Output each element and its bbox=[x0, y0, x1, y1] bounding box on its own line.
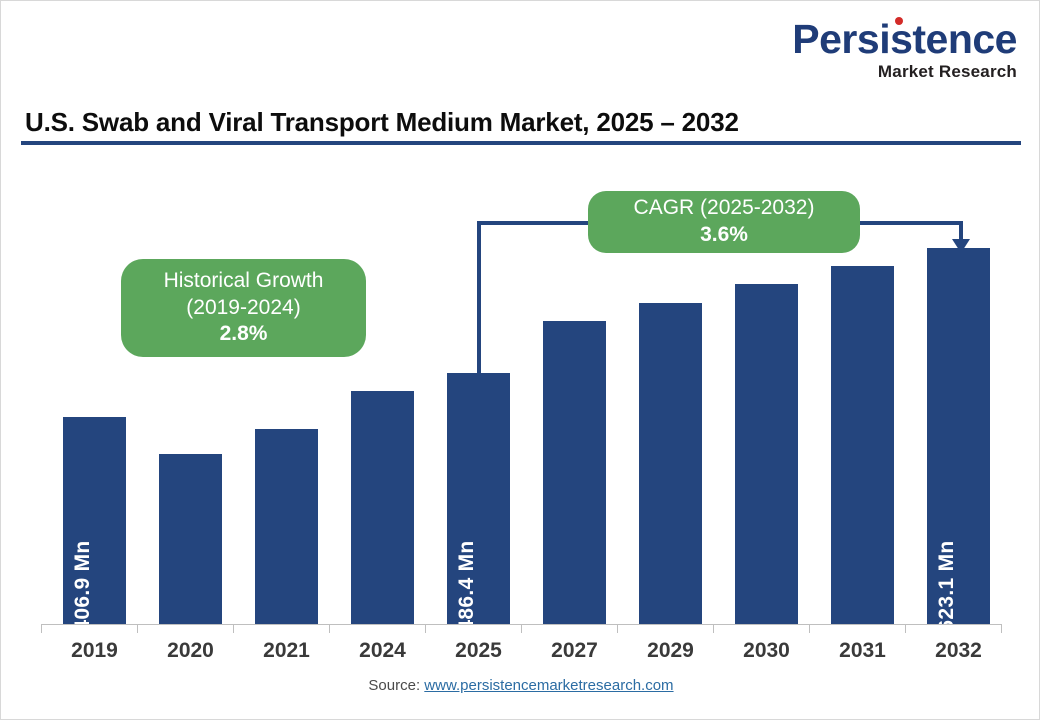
source-note: Source: www.persistencemarketresearch.co… bbox=[1, 677, 1040, 694]
axis-tick bbox=[425, 624, 426, 633]
historical-growth-line2: (2019-2024) bbox=[186, 295, 300, 322]
bar-2030 bbox=[735, 284, 798, 624]
historical-growth-line1: Historical Growth bbox=[164, 268, 324, 295]
cagr-value: 3.6% bbox=[700, 222, 748, 249]
source-prefix: Source: bbox=[368, 677, 424, 694]
source-link[interactable]: www.persistencemarketresearch.com bbox=[424, 677, 673, 694]
historical-growth-callout: Historical Growth (2019-2024) 2.8% bbox=[121, 259, 366, 357]
axis-tick bbox=[41, 624, 42, 633]
axis-tick bbox=[905, 624, 906, 633]
cagr-line1: CAGR (2025-2032) bbox=[634, 195, 815, 222]
category-label-2024: 2024 bbox=[335, 639, 431, 663]
cagr-connector-left-vertical bbox=[477, 221, 481, 373]
category-label-2030: 2030 bbox=[719, 639, 815, 663]
bar-2019: US$ 406.9 Mn bbox=[63, 417, 126, 624]
bar-2024 bbox=[351, 391, 414, 624]
bar-2021 bbox=[255, 429, 318, 624]
historical-growth-value: 2.8% bbox=[220, 321, 268, 348]
category-label-2032: 2032 bbox=[911, 639, 1007, 663]
axis-tick bbox=[809, 624, 810, 633]
category-label-2025: 2025 bbox=[431, 639, 527, 663]
axis-tick bbox=[233, 624, 234, 633]
category-label-2031: 2031 bbox=[815, 639, 911, 663]
category-label-2020: 2020 bbox=[143, 639, 239, 663]
bar-2029 bbox=[639, 303, 702, 624]
category-label-2027: 2027 bbox=[527, 639, 623, 663]
bar-2032: US$ 623.1 Mn bbox=[927, 248, 990, 624]
axis-tick bbox=[617, 624, 618, 633]
bar-chart-plot: US$ 406.9 MnUS$ 486.4 MnUS$ 623.1 Mn 201… bbox=[1, 1, 1040, 720]
bar-2025: US$ 486.4 Mn bbox=[447, 373, 510, 624]
bar-2027 bbox=[543, 321, 606, 624]
x-axis-line bbox=[41, 624, 1001, 625]
cagr-connector-left-horizontal bbox=[477, 221, 592, 225]
cagr-callout: CAGR (2025-2032) 3.6% bbox=[588, 191, 860, 253]
axis-tick bbox=[137, 624, 138, 633]
chart-card: Persistence Market Research U.S. Swab an… bbox=[0, 0, 1040, 720]
axis-tick bbox=[329, 624, 330, 633]
category-label-2029: 2029 bbox=[623, 639, 719, 663]
cagr-connector-right-horizontal bbox=[856, 221, 963, 225]
category-label-2021: 2021 bbox=[239, 639, 335, 663]
axis-tick bbox=[1001, 624, 1002, 633]
bar-2020 bbox=[159, 454, 222, 624]
category-label-2019: 2019 bbox=[47, 639, 143, 663]
axis-tick bbox=[713, 624, 714, 633]
bar-2031 bbox=[831, 266, 894, 624]
axis-tick bbox=[521, 624, 522, 633]
cagr-arrow-icon bbox=[952, 239, 970, 253]
